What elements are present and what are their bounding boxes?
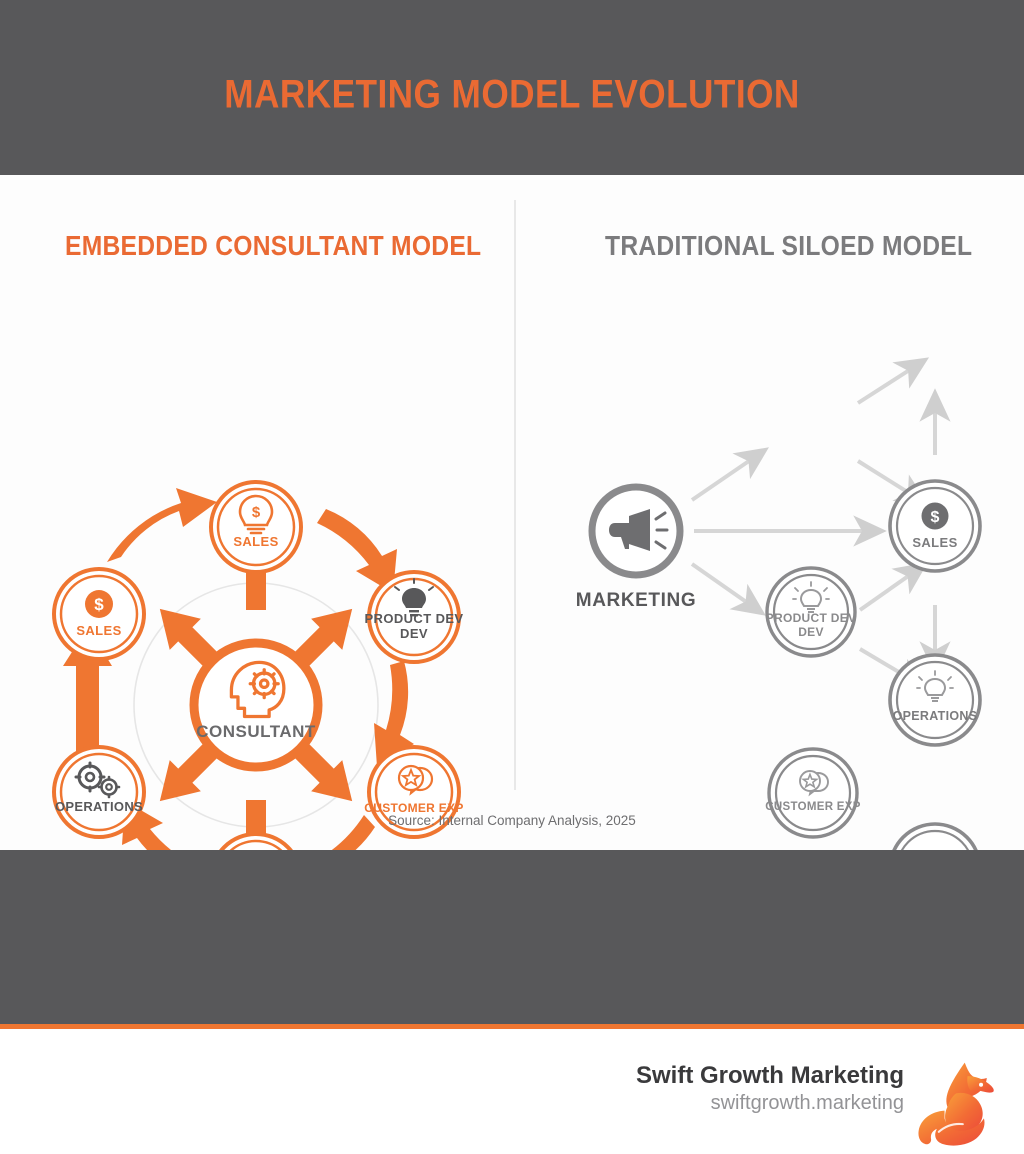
connector-marketing-to-productdev — [692, 450, 765, 500]
fox-eye — [979, 1083, 983, 1087]
infographic-page: MARKETING MODEL EVOLUTION EMBEDDED CONSU… — [0, 0, 1024, 1154]
traditional-siloed-diagram: MARKETING PROD — [0, 175, 1024, 850]
right-node-label-line2: DEV — [798, 625, 824, 639]
page-title: MARKETING MODEL EVOLUTION — [0, 73, 1024, 118]
right-node-label: CUSTOMER EXP — [765, 801, 860, 813]
marketing-hub-node[interactable]: MARKETING — [576, 487, 696, 611]
right-node-operations[interactable]: OPERATIONS — [890, 655, 980, 745]
marketing-hub-label: MARKETING — [576, 590, 696, 611]
right-node-label: PRODUCT DEV — [766, 611, 857, 625]
connector-productdev-to-sales — [858, 360, 925, 403]
right-node-label: SALES — [912, 535, 957, 550]
coin-dollar-icon: $ — [922, 503, 949, 530]
brand-name: Swift Growth Marketing — [636, 1061, 904, 1091]
svg-text:$: $ — [931, 509, 940, 526]
brand-block: Swift Growth Marketing swiftgrowth.marke… — [636, 1061, 904, 1116]
header-bar: MARKETING MODEL EVOLUTION — [0, 0, 1024, 175]
bottom-dark-band — [0, 850, 1024, 1024]
connector-customerexp-to-operations — [860, 565, 924, 610]
brand-url[interactable]: swiftgrowth.marketing — [636, 1091, 904, 1116]
right-node-label: OPERATIONS — [893, 709, 978, 723]
right-node-sales[interactable]: $ SALES — [890, 481, 980, 571]
right-node-product-dev[interactable]: PRODUCT DEV DEV — [766, 568, 857, 656]
fox-logo — [910, 1055, 1006, 1151]
source-note: Source: Internal Company Analysis, 2025 — [0, 813, 1024, 828]
connector-marketing-to-customerexp — [692, 564, 762, 613]
content-area: EMBEDDED CONSULTANT MODEL TRADITIONAL SI… — [0, 175, 1024, 850]
page-title-text: MARKETING MODEL EVOLUTION — [224, 73, 800, 118]
footer: Swift Growth Marketing swiftgrowth.marke… — [0, 1029, 1024, 1154]
